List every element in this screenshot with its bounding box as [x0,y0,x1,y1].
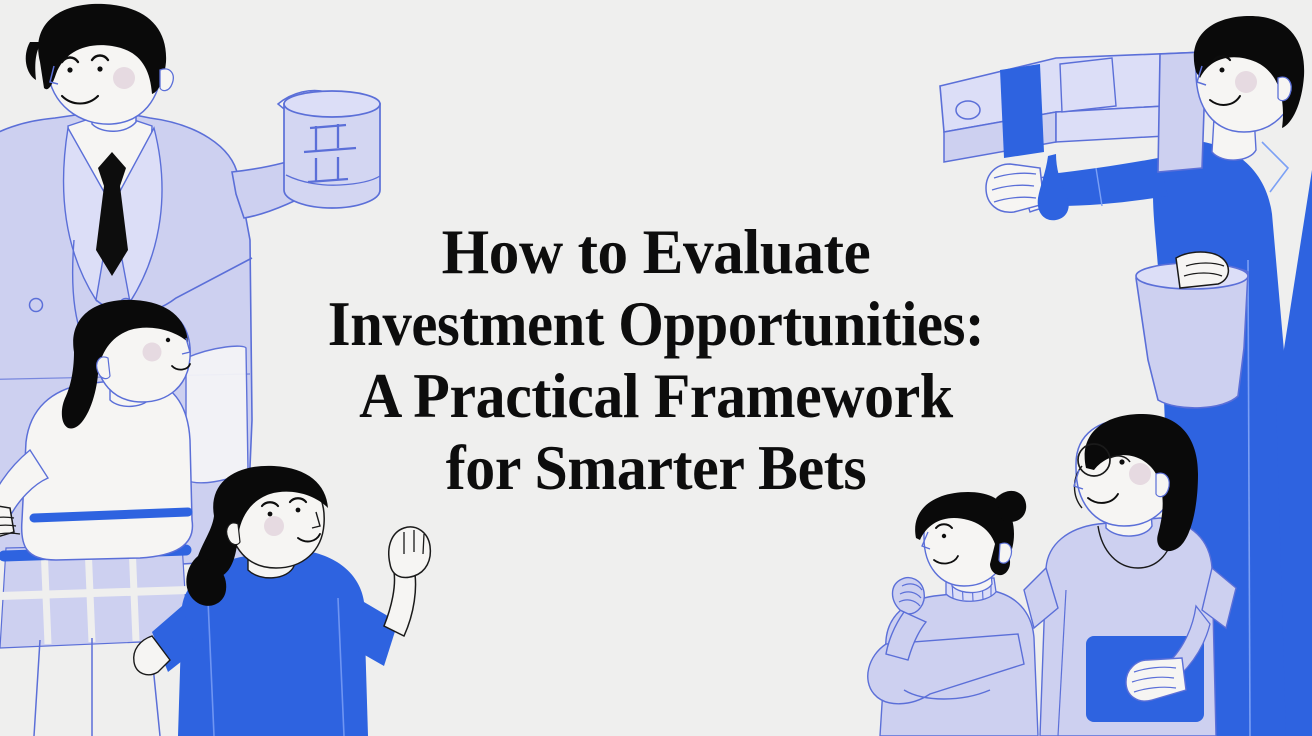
title-line-3: A Practical Framework [33,360,1279,432]
figure-boy-thinking [868,491,1038,736]
title-line-4: for Smarter Bets [33,432,1279,504]
prop-cylinder-canister [284,91,380,208]
prop-paint-roller-and-bucket [940,52,1206,220]
prop-blue-tablet [1086,636,1204,722]
hero-banner: How to Evaluate Investment Opportunities… [0,0,1312,736]
title-line-2: Investment Opportunities: [46,288,1266,360]
figure-girl-waving-blue-shirt [134,466,431,736]
title-line-1: How to Evaluate [20,216,1293,288]
hero-title: How to Evaluate Investment Opportunities… [0,216,1312,504]
